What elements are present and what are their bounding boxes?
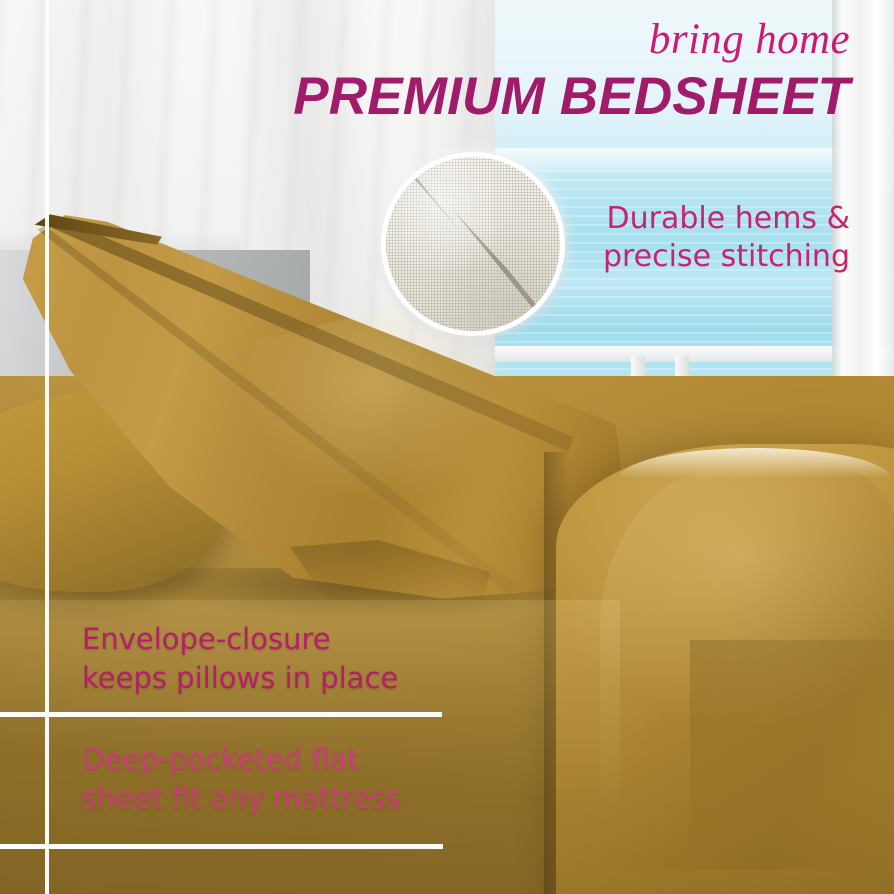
feature-stitching: Durable hems & precise stitching: [520, 200, 850, 277]
feature-deep-pocket: Deep-pocketed flat sheet fit any mattres…: [82, 740, 482, 819]
feature-envelope-closure: Envelope-closure keeps pillows in place: [82, 620, 482, 699]
feature-deeppocket-line2: sheet fit any mattress: [82, 779, 482, 818]
product-banner: bring home PREMIUM BEDSHEET Durable hems…: [0, 0, 894, 894]
feature-deeppocket-line1: Deep-pocketed flat: [82, 740, 482, 779]
feature-envelope-line1: Envelope-closure: [82, 620, 482, 659]
feature-stitching-line1: Durable hems &: [520, 200, 850, 238]
duvet-fold: [690, 640, 894, 894]
feature-stitching-line2: precise stitching: [520, 238, 850, 276]
grid-line-horizontal-upper: [0, 712, 442, 717]
eyebrow-text: bring home: [0, 18, 850, 61]
grid-line-horizontal-lower: [0, 844, 443, 849]
feature-envelope-line2: keeps pillows in place: [82, 659, 482, 698]
headline-block: bring home PREMIUM BEDSHEET: [0, 18, 894, 124]
grid-line-vertical: [45, 0, 49, 894]
page-title: PREMIUM BEDSHEET: [0, 69, 850, 124]
